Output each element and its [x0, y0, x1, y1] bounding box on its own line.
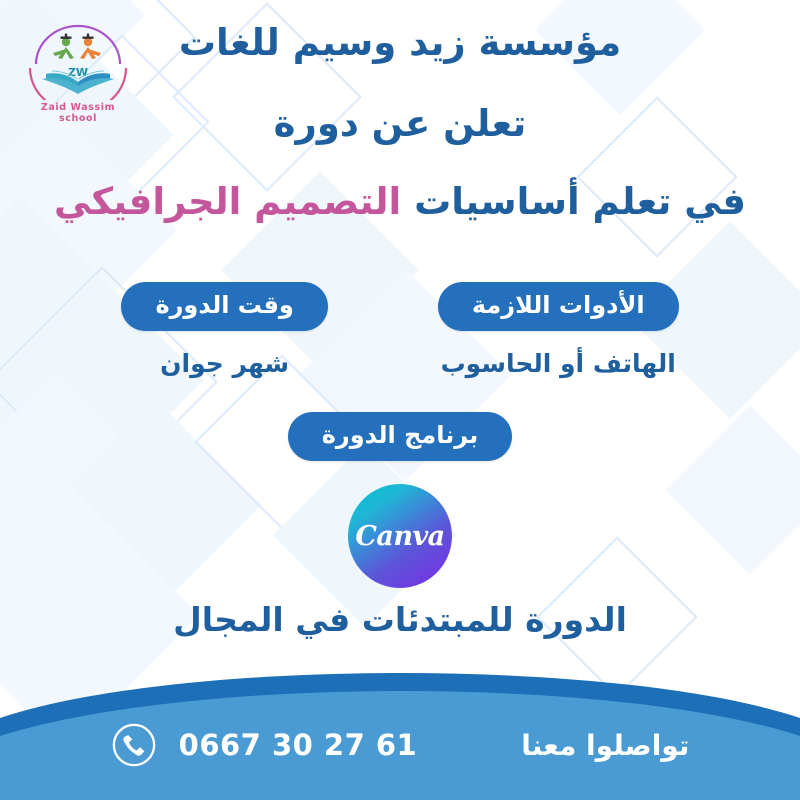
canva-logo: Canva	[348, 484, 452, 588]
footer-contact-bar: تواصلوا معنا 0667 30 27 61	[0, 690, 800, 800]
logo-monogram: ZW	[68, 66, 88, 79]
phone-icon	[111, 722, 157, 768]
contact-label: تواصلوا معنا	[521, 729, 689, 762]
pill-required-tools[interactable]: الأدوات اللازمة	[438, 282, 679, 331]
value-course-time: شهر جوان	[121, 349, 327, 378]
info-column-tools: الأدوات اللازمة الهاتف أو الحاسوب	[438, 282, 679, 378]
pill-course-program[interactable]: برنامج الدورة	[288, 412, 512, 461]
school-logo-caption: Zaid Wassim school	[20, 102, 136, 124]
phone-group[interactable]: 0667 30 27 61	[111, 722, 418, 768]
school-logo: ZW Zaid Wassim school	[20, 22, 136, 126]
phone-number: 0667 30 27 61	[179, 728, 418, 762]
headline-line-3-pink: التصميم الجرافيكي	[54, 180, 401, 223]
canva-wordmark: Canva	[355, 521, 444, 552]
pill-course-time[interactable]: وقت الدورة	[121, 282, 327, 331]
headline-line-3: في تعلم أساسيات التصميم الجرافيكي	[0, 181, 800, 224]
poster-canvas: ZW Zaid Wassim school مؤسسة زيد وسيم للغ…	[0, 0, 800, 800]
tagline: الدورة للمبتدئات في المجال	[0, 600, 800, 639]
info-column-time: وقت الدورة شهر جوان	[121, 282, 327, 378]
school-logo-icon: ZW	[22, 22, 134, 100]
headline-line-3-blue: في تعلم أساسيات	[414, 180, 746, 223]
bg-diamond	[0, 196, 204, 564]
info-row: الأدوات اللازمة الهاتف أو الحاسوب وقت ال…	[0, 282, 800, 378]
program-block: برنامج الدورة	[0, 412, 800, 461]
value-required-tools: الهاتف أو الحاسوب	[438, 349, 679, 378]
